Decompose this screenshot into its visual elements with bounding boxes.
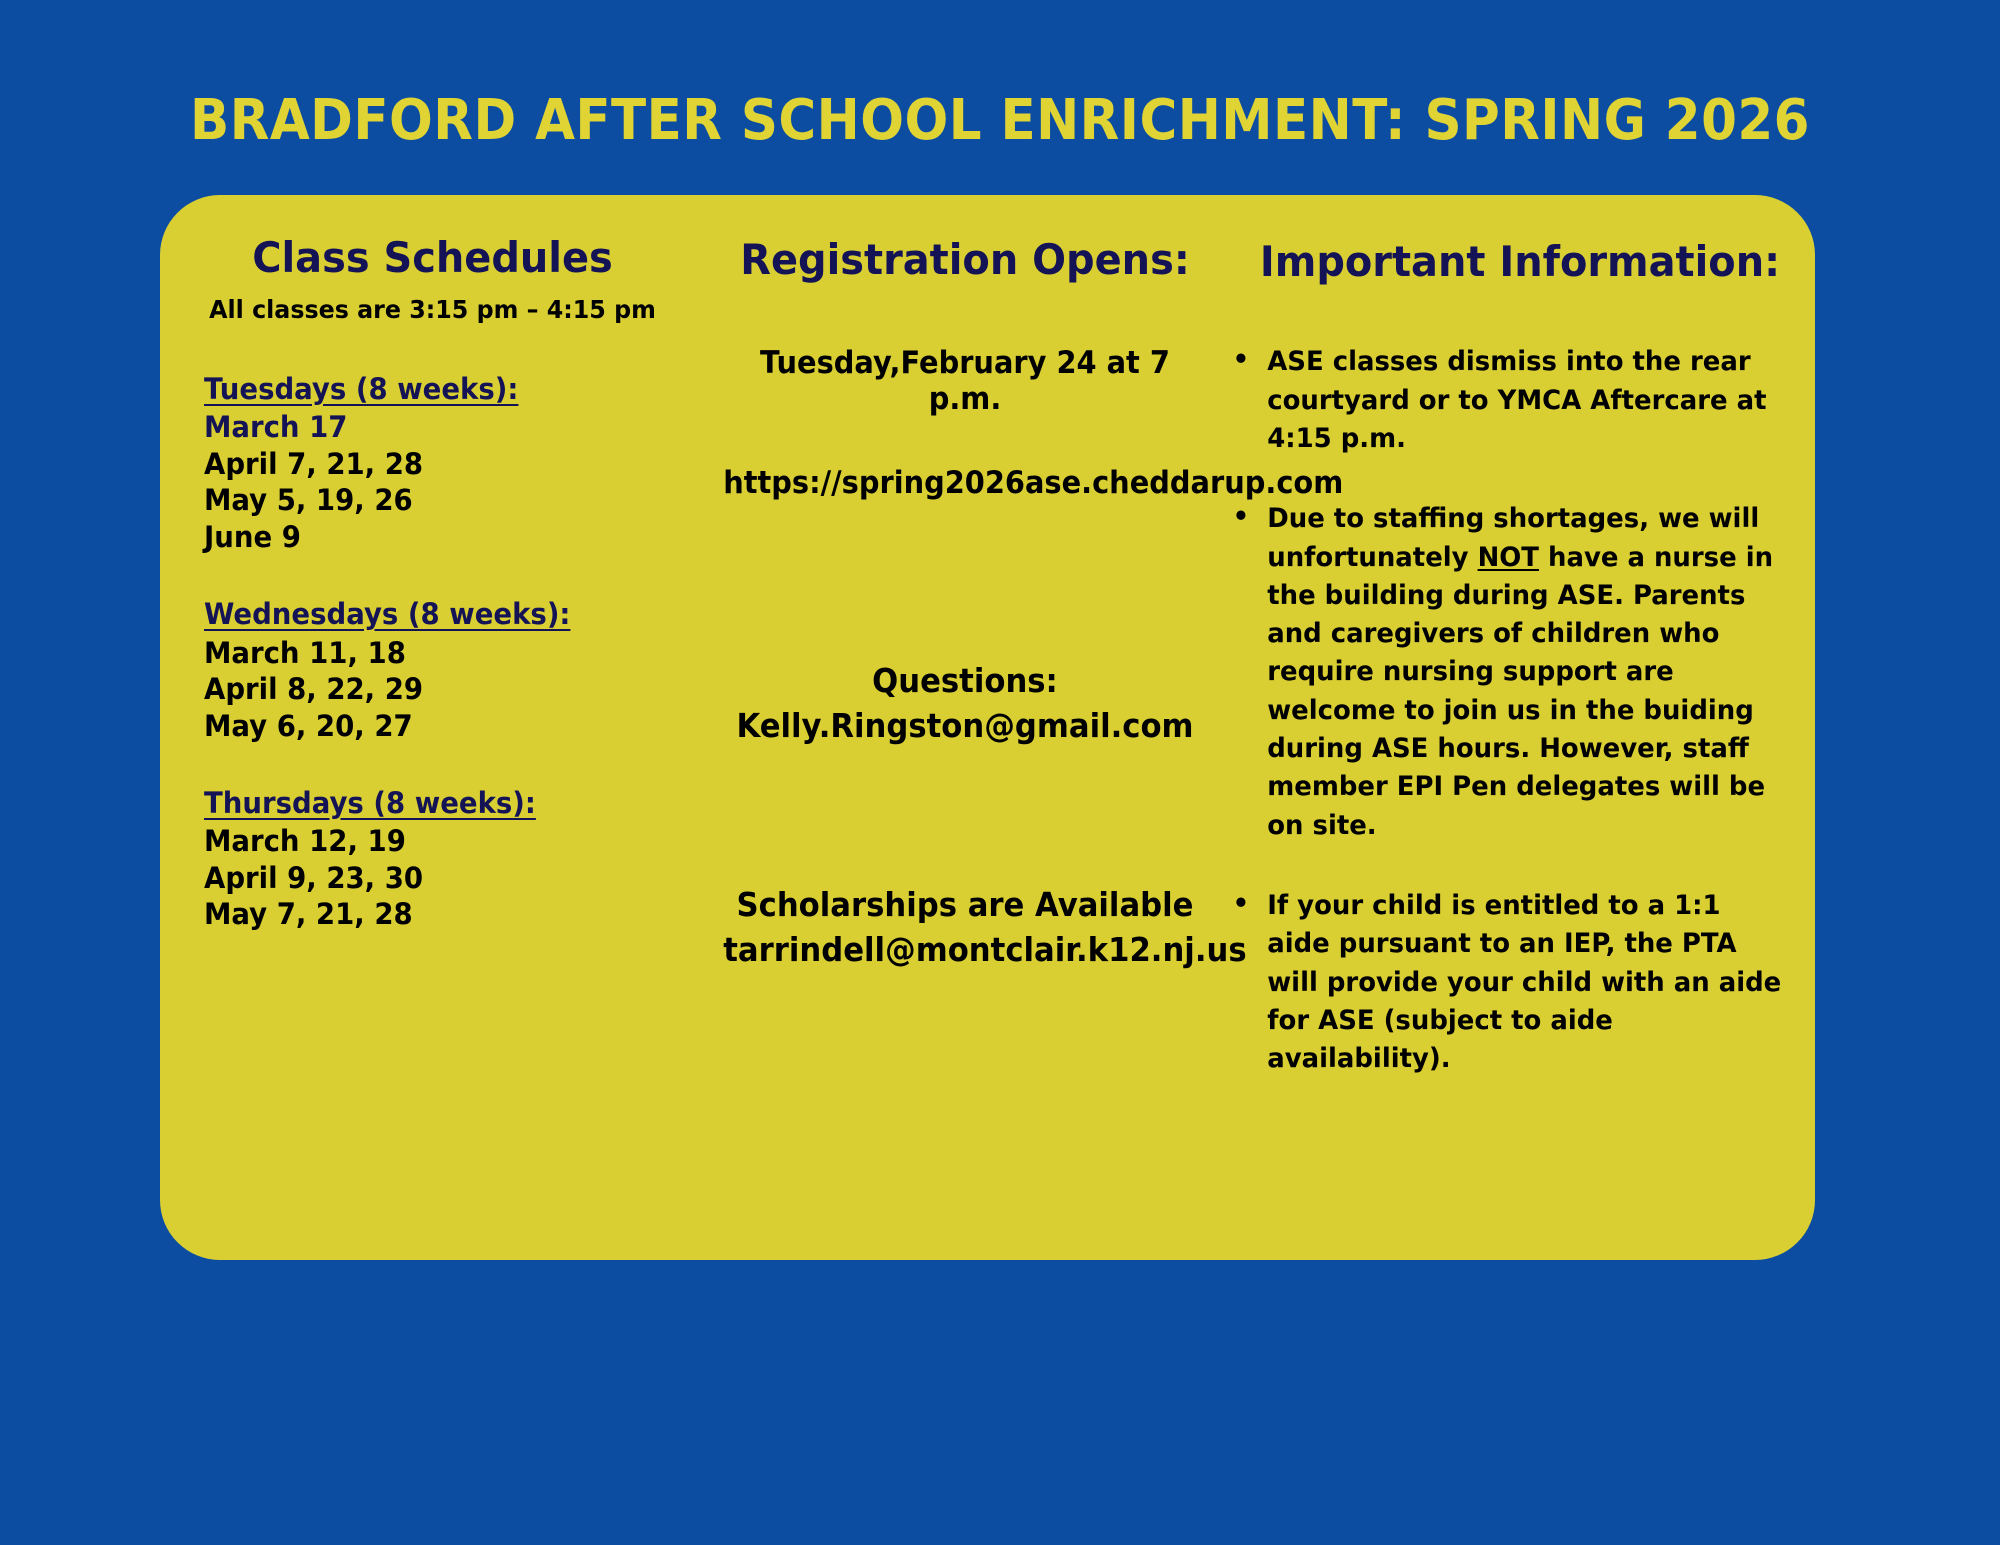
important-bullet-item: ASE classes dismiss into the rear courty… [1225, 343, 1791, 458]
class-times-note: All classes are 3:15 pm – 4:15 pm [174, 295, 692, 324]
scholarships-label: Scholarships are Available [723, 885, 1207, 924]
important-bullet-item: If your child is entitled to a 1:1 aide … [1225, 887, 1791, 1079]
info-card: Class Schedules All classes are 3:15 pm … [160, 195, 1815, 1260]
schedule-date: March 17 [204, 409, 680, 446]
schedule-day-label: Tuesdays (8 weeks): [204, 370, 518, 409]
schedule-date: May 6, 20, 27 [204, 708, 680, 745]
bullet-text: ASE classes dismiss into the rear courty… [1267, 346, 1766, 454]
schedule-date: June 9 [204, 519, 680, 556]
schedule-block-tuesdays: Tuesdays (8 weeks): March 17 April 7, 21… [204, 370, 705, 555]
emphasis-text: NOT [1478, 542, 1539, 573]
questions-label: Questions: [723, 661, 1207, 700]
important-information-heading: Important Information: [1240, 239, 1801, 285]
schedule-block-thursdays: Thursdays (8 weeks): March 12, 19 April … [204, 784, 705, 933]
registration-column: Registration Opens: Tuesday,February 24 … [705, 195, 1225, 969]
schedule-day-label: Wednesdays (8 weeks): [204, 595, 570, 634]
schedule-date: May 7, 21, 28 [204, 896, 680, 933]
registration-open-date: Tuesday,February 24 at 7 p.m. [723, 345, 1207, 417]
important-bullet-item: Due to staffing shortages, we will unfor… [1225, 500, 1791, 845]
schedule-day-label: Thursdays (8 weeks): [204, 784, 536, 823]
schedule-date: March 12, 19 [204, 823, 680, 860]
questions-email-link[interactable]: Kelly.Ringston@gmail.com [723, 706, 1207, 745]
registration-url-link[interactable]: https://spring2026ase.cheddarup.com [723, 465, 1207, 501]
registration-heading: Registration Opens: [718, 237, 1212, 283]
class-schedules-heading: Class Schedules [174, 235, 692, 281]
scholarships-email-link[interactable]: tarrindell@montclair.k12.nj.us [723, 930, 1207, 969]
important-information-bullets: ASE classes dismiss into the rear courty… [1225, 343, 1815, 1079]
class-schedules-column: Class Schedules All classes are 3:15 pm … [160, 195, 705, 933]
schedule-date: May 5, 19, 26 [204, 482, 680, 519]
page-title: BRADFORD AFTER SCHOOL ENRICHMENT: SPRING… [80, 93, 1920, 149]
bullet-text: If your child is entitled to a 1:1 aide … [1267, 890, 1781, 1074]
schedule-date: April 8, 22, 29 [204, 671, 680, 708]
schedule-date: April 7, 21, 28 [204, 446, 680, 483]
schedule-date: March 11, 18 [204, 635, 680, 672]
schedule-date: April 9, 23, 30 [204, 860, 680, 897]
important-information-column: Important Information: ASE classes dismi… [1225, 195, 1815, 1121]
schedule-block-wednesdays: Wednesdays (8 weeks): March 11, 18 April… [204, 595, 705, 744]
bullet-text: have a nurse in the building during ASE.… [1267, 542, 1773, 841]
